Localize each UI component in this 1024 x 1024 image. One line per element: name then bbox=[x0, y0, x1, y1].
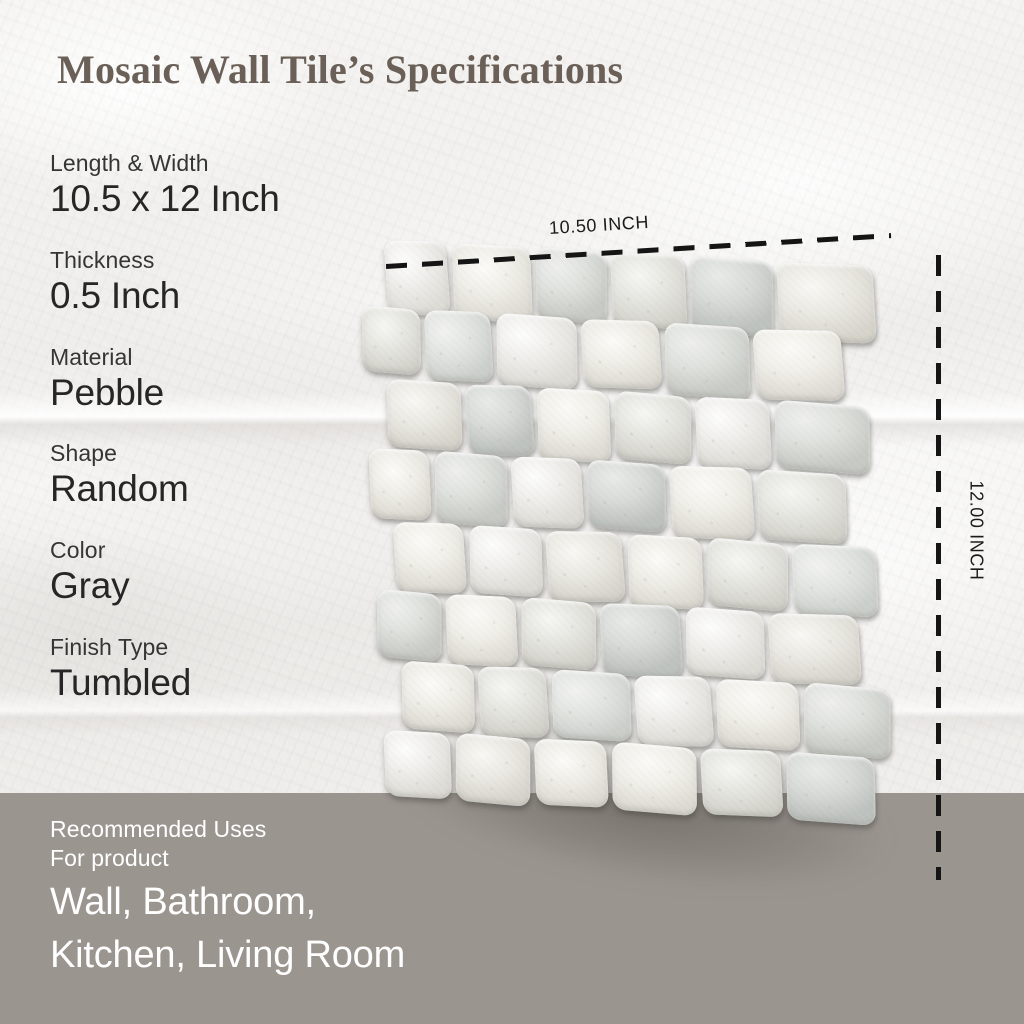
spec-row-length-width: Length & Width 10.5 x 12 Inch bbox=[50, 150, 380, 221]
pebble-stone bbox=[477, 666, 550, 738]
pebble-stone bbox=[368, 448, 432, 521]
spec-label: Material bbox=[50, 344, 380, 371]
recommended-uses-label-line2: For product bbox=[50, 844, 670, 873]
pebble-stone bbox=[496, 313, 578, 391]
pebble-stone bbox=[464, 385, 535, 456]
pebble-stone bbox=[804, 682, 890, 760]
pebble-stone bbox=[695, 397, 773, 470]
pebble-stone bbox=[510, 456, 584, 529]
pebble-stone bbox=[708, 537, 788, 612]
pebble-stone bbox=[424, 310, 494, 382]
pebble-stone bbox=[587, 459, 667, 533]
recommended-uses-content: Recommended Uses For product Wall, Bathr… bbox=[50, 815, 670, 981]
pebble-stone bbox=[668, 466, 755, 540]
pebble-stone bbox=[599, 603, 683, 678]
spec-row-thickness: Thickness 0.5 Inch bbox=[50, 247, 380, 318]
pebble-stone bbox=[627, 534, 704, 610]
pebble-stone bbox=[700, 748, 784, 817]
pebble-stone bbox=[752, 329, 845, 401]
dimension-label-height: 12.00 INCH bbox=[966, 480, 987, 580]
pebble-stone bbox=[610, 252, 688, 329]
spec-label: Color bbox=[50, 537, 380, 564]
page-title: Mosaic Wall Tile’s Specifications bbox=[57, 46, 623, 93]
pebble-stone bbox=[791, 544, 879, 618]
pebble-stone bbox=[377, 589, 441, 663]
pebble-stone bbox=[612, 741, 697, 816]
spec-value: 10.5 x 12 Inch bbox=[50, 177, 380, 221]
pebble-stone bbox=[383, 730, 452, 800]
product-image bbox=[352, 230, 952, 910]
spec-value: Random bbox=[50, 467, 380, 511]
spec-label: Finish Type bbox=[50, 634, 380, 661]
spec-row-finish-type: Finish Type Tumbled bbox=[50, 634, 380, 705]
pebble-stone bbox=[786, 752, 876, 826]
spec-value: Gray bbox=[50, 564, 380, 608]
spec-value: 0.5 Inch bbox=[50, 274, 380, 318]
spec-label: Length & Width bbox=[50, 150, 380, 177]
pebble-stone bbox=[775, 399, 870, 475]
pebble-stone bbox=[383, 240, 451, 315]
spec-row-color: Color Gray bbox=[50, 537, 380, 608]
pebble-stone bbox=[456, 732, 530, 807]
pebble-stone bbox=[767, 613, 862, 685]
pebble-stone bbox=[664, 322, 750, 399]
pebble-stone bbox=[545, 531, 626, 602]
pebble-stone bbox=[362, 305, 421, 376]
pebble-stone bbox=[469, 525, 543, 598]
recommended-uses-value-line2: Kitchen, Living Room bbox=[50, 931, 670, 980]
specification-list: Length & Width 10.5 x 12 Inch Thickness … bbox=[50, 150, 380, 731]
pebble-stone bbox=[435, 450, 508, 528]
pebble-stone bbox=[686, 606, 766, 680]
spec-row-shape: Shape Random bbox=[50, 440, 380, 511]
spec-row-material: Material Pebble bbox=[50, 344, 380, 415]
pebble-stone bbox=[552, 669, 632, 742]
recommended-uses-label-line1: Recommended Uses bbox=[50, 815, 670, 844]
pebble-stone bbox=[757, 469, 847, 545]
dimension-line-right bbox=[936, 255, 941, 880]
spec-value: Tumbled bbox=[50, 661, 380, 705]
pebble-stone bbox=[536, 387, 611, 463]
pebble-mosaic-tile bbox=[359, 238, 894, 826]
pebble-stone bbox=[401, 660, 475, 733]
pebble-stone bbox=[386, 379, 462, 452]
pebble-stone bbox=[615, 390, 691, 465]
spec-value: Pebble bbox=[50, 371, 380, 415]
pebble-stone bbox=[716, 679, 801, 752]
pebble-stone bbox=[633, 675, 714, 746]
pebble-stone bbox=[392, 522, 467, 594]
pebble-stone bbox=[445, 594, 519, 667]
spec-label: Thickness bbox=[50, 247, 380, 274]
pebble-stone bbox=[580, 319, 663, 389]
recommended-uses-value-line1: Wall, Bathroom, bbox=[50, 878, 670, 927]
spec-label: Shape bbox=[50, 440, 380, 467]
pebble-stone bbox=[534, 739, 609, 808]
pebble-stone bbox=[521, 597, 596, 671]
